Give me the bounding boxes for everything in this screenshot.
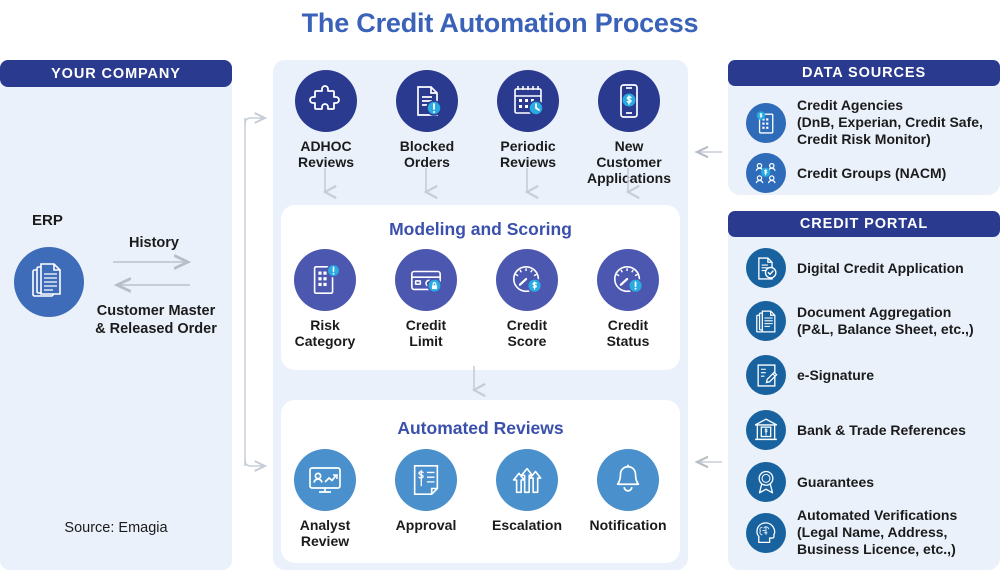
credit-portal-header: CREDIT PORTAL bbox=[728, 211, 1000, 237]
credit-portal-item-label: Guarantees bbox=[797, 474, 874, 491]
flow-node-label: Approval bbox=[380, 517, 472, 533]
flow-node-credit-limit[interactable]: Credit Limit bbox=[380, 249, 472, 349]
documents-stack-icon bbox=[746, 301, 786, 341]
credit-card-lock-icon bbox=[395, 249, 457, 311]
data-sources-header: DATA SOURCES bbox=[728, 60, 1000, 86]
flow-node-credit-status[interactable]: Credit Status bbox=[582, 249, 674, 349]
flow-node-label: Credit Score bbox=[481, 317, 573, 349]
bell-icon bbox=[597, 449, 659, 511]
credit-portal-item-label: Automated Verifications (Legal Name, Add… bbox=[797, 507, 957, 558]
document-pen-icon bbox=[746, 355, 786, 395]
data-source-item-label: Credit Groups (NACM) bbox=[797, 165, 946, 182]
bank-dollar-icon bbox=[746, 410, 786, 450]
flow-node-escalation[interactable]: Escalation bbox=[481, 449, 573, 533]
puzzle-piece-icon bbox=[295, 70, 357, 132]
source-note: Source: Emagia bbox=[0, 520, 232, 536]
flow-node-label: Analyst Review bbox=[279, 517, 371, 549]
flow-node-label: Risk Category bbox=[279, 317, 371, 349]
rising-arrows-icon bbox=[496, 449, 558, 511]
flow-node-approval[interactable]: Approval bbox=[380, 449, 472, 533]
data-source-item-credit-agencies[interactable]: Credit Agencies (DnB, Experian, Credit S… bbox=[746, 97, 994, 148]
monitor-analyst-icon bbox=[294, 449, 356, 511]
credit-portal-item-automated-verifications[interactable]: Automated Verifications (Legal Name, Add… bbox=[746, 507, 994, 558]
your-company-header: YOUR COMPANY bbox=[0, 60, 232, 87]
data-source-item-credit-groups[interactable]: Credit Groups (NACM) bbox=[746, 153, 994, 193]
page-title: The Credit Automation Process bbox=[0, 8, 1000, 39]
flow-node-label: Credit Limit bbox=[380, 317, 472, 349]
data-source-item-label: Credit Agencies (DnB, Experian, Credit S… bbox=[797, 97, 983, 148]
flow-node-label: New Customer Applications bbox=[583, 138, 675, 186]
document-check-icon bbox=[746, 248, 786, 288]
building-alert-icon bbox=[294, 249, 356, 311]
building-dollar-icon bbox=[746, 103, 786, 143]
credit-portal-item-document-aggregation[interactable]: Document Aggregation (P&L, Balance Sheet… bbox=[746, 301, 994, 341]
flow-node-label: Escalation bbox=[481, 517, 573, 533]
flow-node-label: ADHOC Reviews bbox=[280, 138, 372, 170]
flow-node-new-customer-applications[interactable]: New Customer Applications bbox=[583, 70, 675, 186]
credit-portal-item-label: Bank & Trade References bbox=[797, 422, 966, 439]
gauge-alert-icon bbox=[597, 249, 659, 311]
document-alert-icon bbox=[396, 70, 458, 132]
flow-node-periodic-reviews[interactable]: Periodic Reviews bbox=[482, 70, 574, 170]
credit-portal-item-e-signature[interactable]: e-Signature bbox=[746, 355, 994, 395]
mobile-dollar-icon bbox=[598, 70, 660, 132]
erp-label: ERP bbox=[32, 212, 63, 229]
credit-portal-item-digital-credit-application[interactable]: Digital Credit Application bbox=[746, 248, 994, 288]
credit-portal-item-label: Digital Credit Application bbox=[797, 260, 964, 277]
calendar-clock-icon bbox=[497, 70, 559, 132]
flow-node-label: Periodic Reviews bbox=[482, 138, 574, 170]
customer-master-label: Customer Master & Released Order bbox=[72, 302, 240, 338]
flow-node-notification[interactable]: Notification bbox=[582, 449, 674, 533]
flow-node-blocked-orders[interactable]: Blocked Orders bbox=[381, 70, 473, 170]
flow-node-risk-category[interactable]: Risk Category bbox=[279, 249, 371, 349]
automated-reviews-title: Automated Reviews bbox=[281, 418, 680, 439]
flow-node-label: Notification bbox=[582, 517, 674, 533]
history-label: History bbox=[119, 235, 189, 251]
credit-portal-item-guarantees[interactable]: Guarantees bbox=[746, 462, 994, 502]
gauge-dollar-icon bbox=[496, 249, 558, 311]
flow-node-analyst-review[interactable]: Analyst Review bbox=[279, 449, 371, 549]
credit-portal-item-label: Document Aggregation (P&L, Balance Sheet… bbox=[797, 304, 974, 338]
people-dollar-icon bbox=[746, 153, 786, 193]
credit-portal-item-bank-trade-references[interactable]: Bank & Trade References bbox=[746, 410, 994, 450]
flow-node-credit-score[interactable]: Credit Score bbox=[481, 249, 573, 349]
invoice-dollar-icon bbox=[395, 449, 457, 511]
flow-node-adhoc-reviews[interactable]: ADHOC Reviews bbox=[280, 70, 372, 170]
modeling-and-scoring-title: Modeling and Scoring bbox=[281, 219, 680, 240]
brain-head-icon bbox=[746, 513, 786, 553]
credit-portal-item-label: e-Signature bbox=[797, 367, 874, 384]
flow-node-label: Credit Status bbox=[582, 317, 674, 349]
award-ribbon-icon bbox=[746, 462, 786, 502]
flow-node-label: Blocked Orders bbox=[381, 138, 473, 170]
